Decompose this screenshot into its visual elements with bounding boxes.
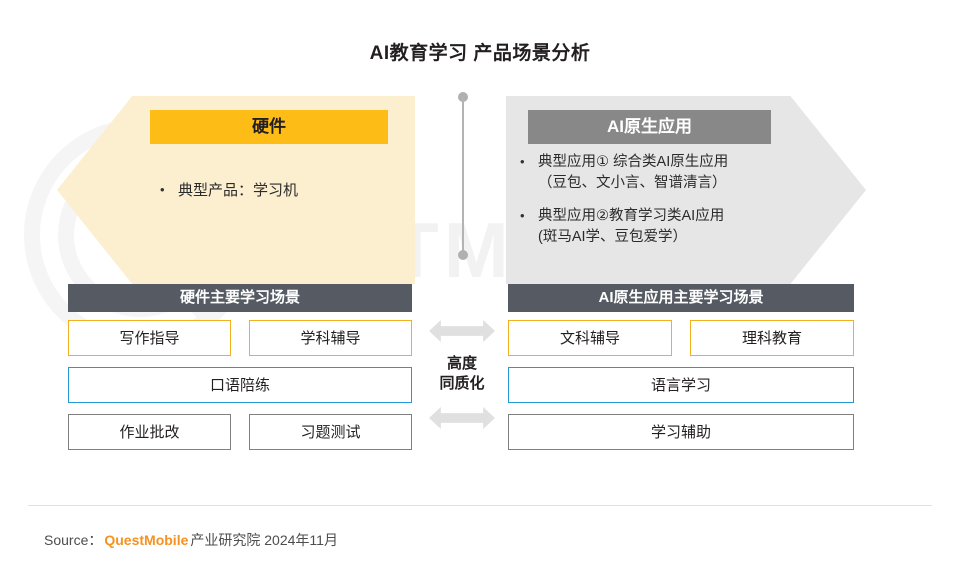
scenario-row: 文科辅导 理科教育 — [508, 320, 854, 356]
hardware-panel-body: • 典型产品：学习机 — [160, 180, 410, 213]
ai-panel-header: AI原生应用 — [528, 110, 771, 144]
panel-connector-line — [458, 92, 468, 260]
scenario-cell[interactable]: 写作指导 — [68, 320, 231, 356]
ai-panel-body: • 典型应用① 综合类AI原生应用 （豆包、文小言、智谱清言） • 典型应用②教… — [520, 152, 850, 260]
source-suffix: 产业研究院 2024年11月 — [190, 532, 338, 548]
bullet-text: 典型应用②教育学习类AI应用 (斑马AI学、豆包爱学） — [538, 206, 850, 248]
bullet-text-main: 典型应用① 综合类AI原生应用 — [538, 154, 728, 170]
scenario-cell[interactable]: 学科辅导 — [249, 320, 412, 356]
bullet-icon: • — [520, 152, 538, 171]
scenario-cell[interactable]: 口语陪练 — [68, 367, 412, 403]
homogeneity-label-line2: 同质化 — [439, 375, 484, 392]
scenario-row: 语言学习 — [508, 367, 854, 403]
bullet-text-sub: （豆包、文小言、智谱清言） — [538, 173, 850, 194]
homogeneity-label: 高度 同质化 — [424, 354, 500, 394]
scenario-cell[interactable]: 语言学习 — [508, 367, 854, 403]
scenario-row: 学习辅助 — [508, 414, 854, 450]
source-prefix: Source： — [44, 532, 102, 548]
double-arrow-icon — [429, 320, 495, 342]
bullet-text-main: 典型应用②教育学习类AI应用 — [538, 208, 724, 224]
homogeneity-label-line1: 高度 — [447, 355, 477, 372]
bullet-icon: • — [160, 180, 178, 199]
scenario-cell[interactable]: 作业批改 — [68, 414, 231, 450]
bullet-icon: • — [520, 206, 538, 225]
ai-scenarios-header: AI原生应用主要学习场景 — [508, 284, 854, 312]
bullet-text: 典型应用① 综合类AI原生应用 （豆包、文小言、智谱清言） — [538, 152, 850, 194]
double-arrow-icon — [429, 407, 495, 429]
ai-scenarios-grid: 文科辅导 理科教育 语言学习 学习辅助 — [508, 320, 854, 461]
scenario-row: 作业批改 习题测试 — [68, 414, 412, 450]
scenario-cell[interactable]: 文科辅导 — [508, 320, 672, 356]
page-title: AI教育学习 产品场景分析 — [0, 38, 960, 65]
scenario-row: 写作指导 学科辅导 — [68, 320, 412, 356]
connector-line — [462, 97, 464, 255]
scenario-cell[interactable]: 理科教育 — [690, 320, 854, 356]
connector-dot-bottom — [458, 250, 468, 260]
footer-divider — [28, 505, 932, 506]
source-line: Source：QuestMobile产业研究院 2024年11月 — [44, 530, 338, 550]
hardware-panel-header: 硬件 — [150, 110, 388, 144]
bullet-text-sub: (斑马AI学、豆包爱学） — [538, 227, 850, 248]
list-item: • 典型产品：学习机 — [160, 180, 410, 201]
homogeneity-indicator: 高度 同质化 — [424, 320, 500, 429]
scenario-row: 口语陪练 — [68, 367, 412, 403]
source-brand: QuestMobile — [104, 532, 188, 548]
list-item: • 典型应用②教育学习类AI应用 (斑马AI学、豆包爱学） — [520, 206, 850, 248]
list-item: • 典型应用① 综合类AI原生应用 （豆包、文小言、智谱清言） — [520, 152, 850, 194]
bullet-text: 典型产品：学习机 — [178, 180, 410, 201]
hardware-scenarios-grid: 写作指导 学科辅导 口语陪练 作业批改 习题测试 — [68, 320, 412, 461]
hardware-scenarios-header: 硬件主要学习场景 — [68, 284, 412, 312]
scenario-cell[interactable]: 学习辅助 — [508, 414, 854, 450]
scenario-cell[interactable]: 习题测试 — [249, 414, 412, 450]
